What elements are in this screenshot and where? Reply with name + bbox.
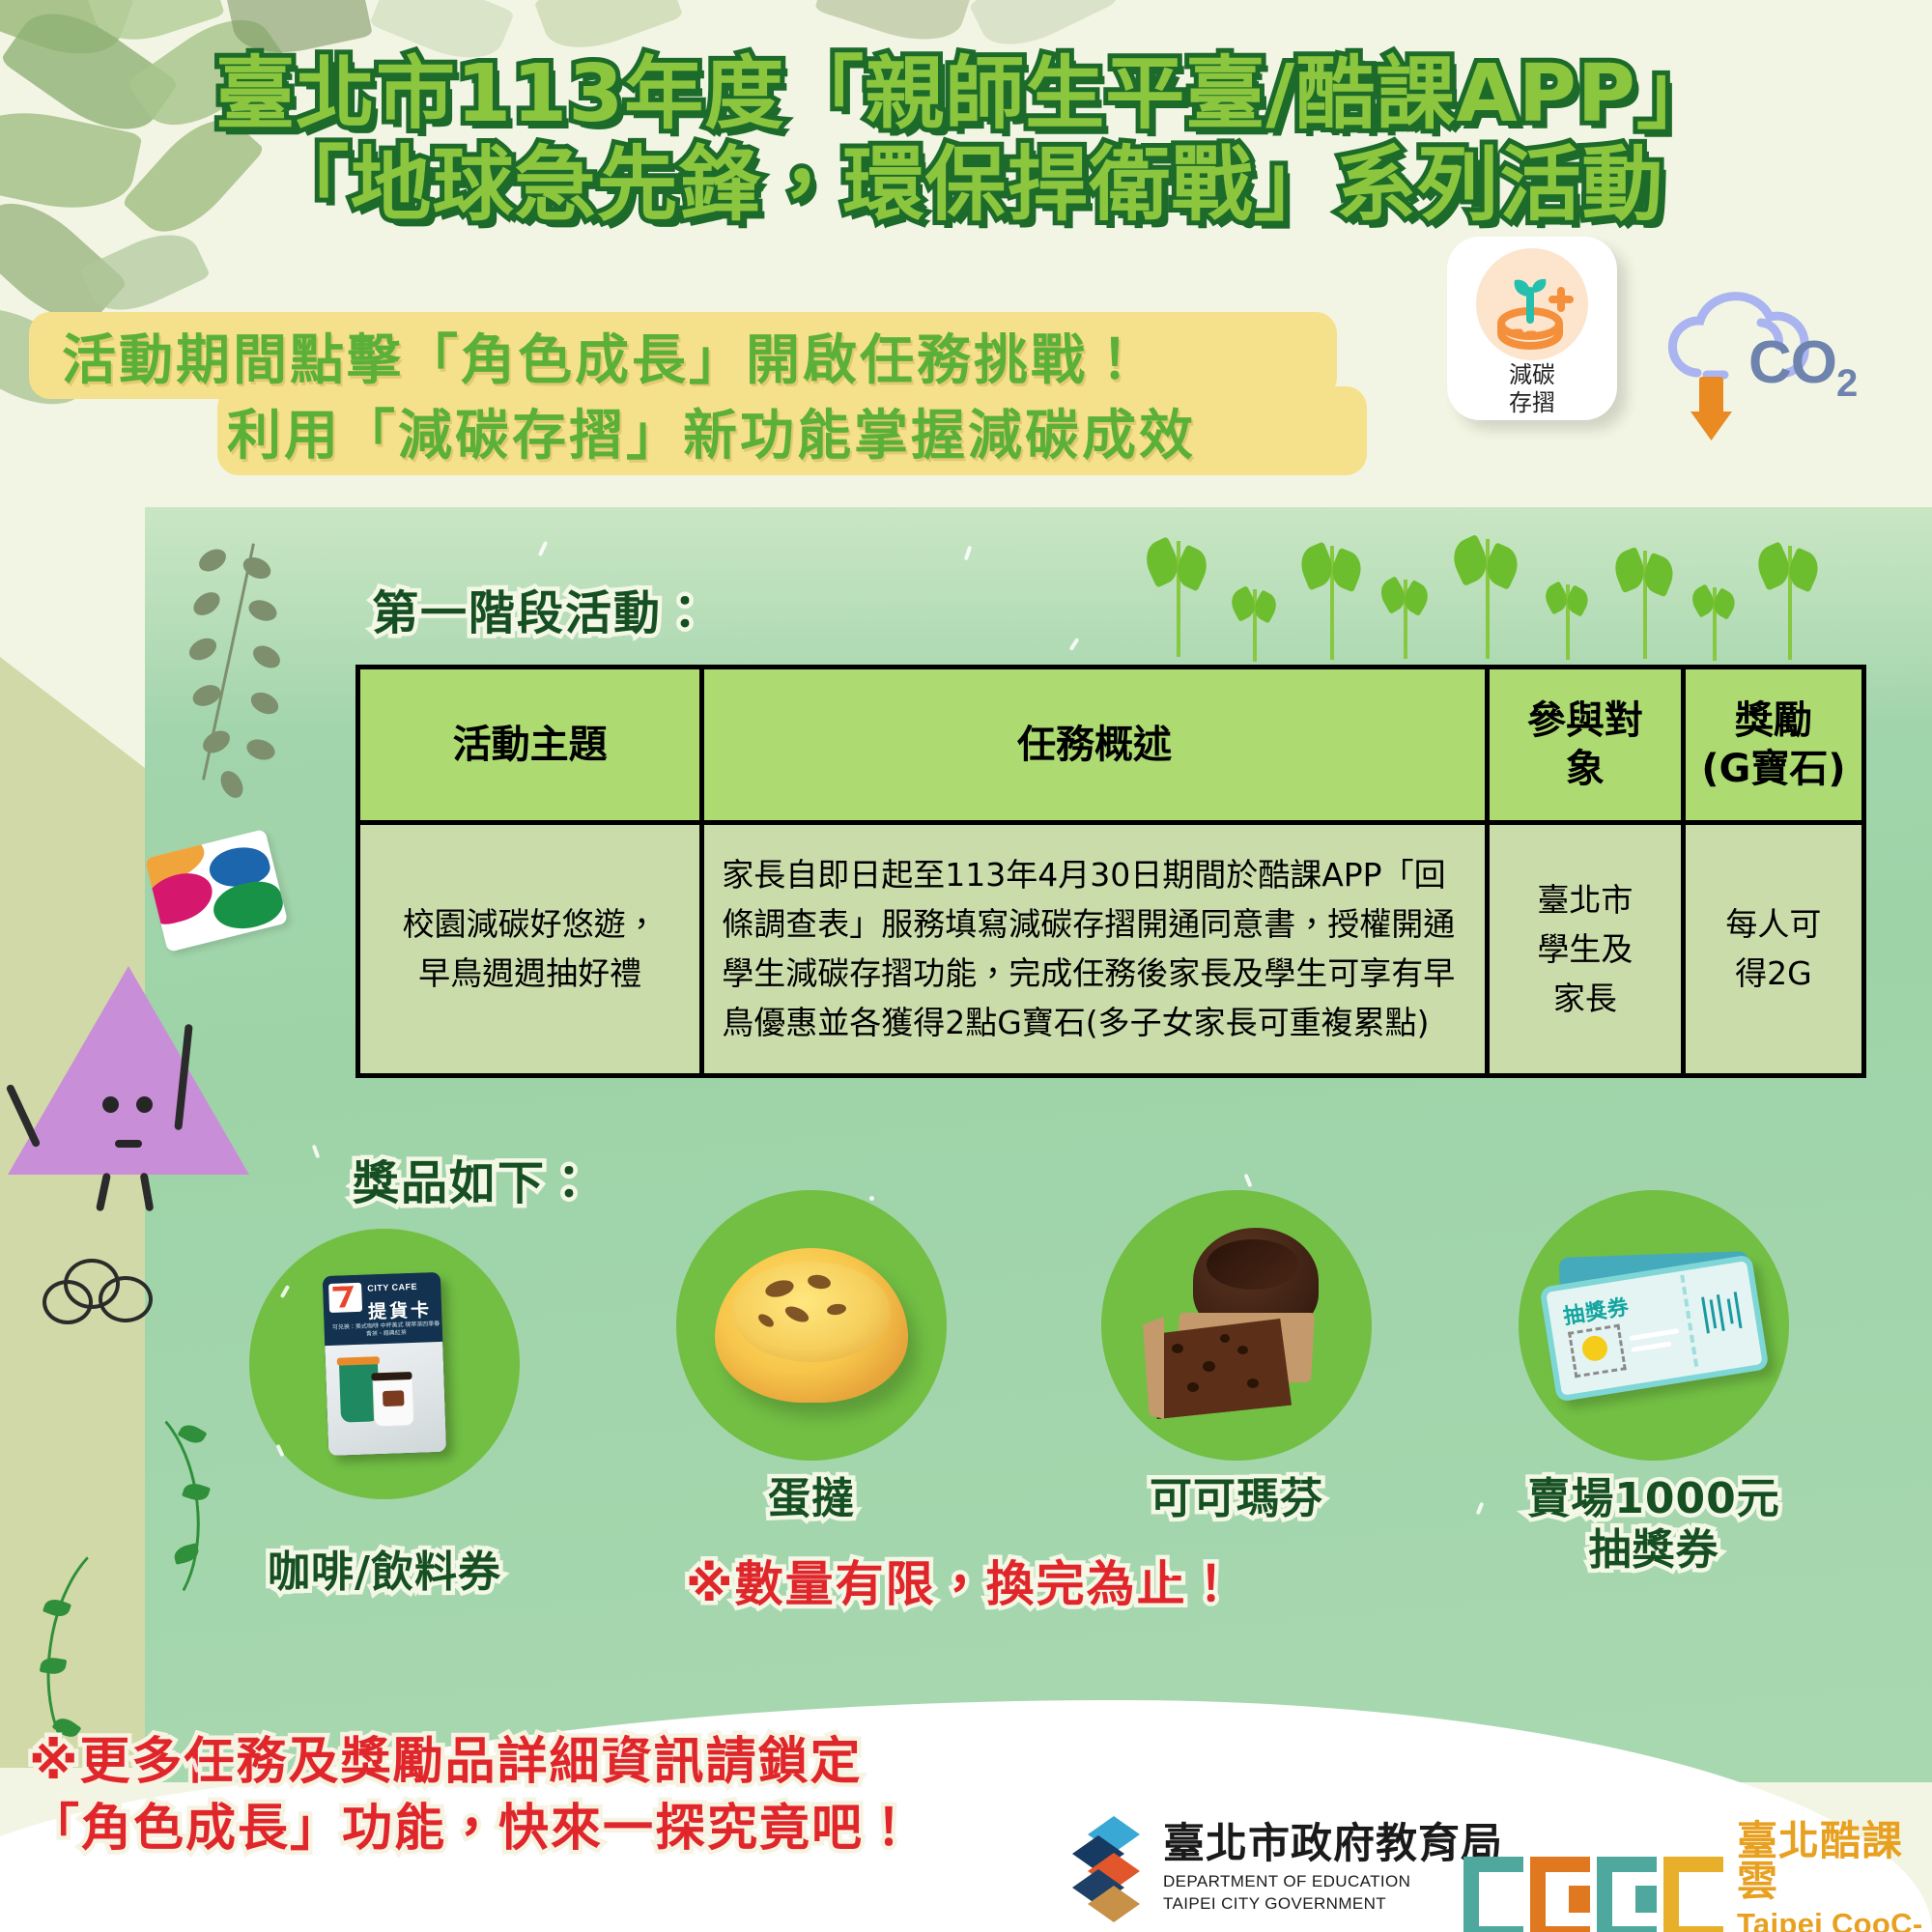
taipei-department-of-education-logo: 臺北市政府教育局 DEPARTMENT OF EDUCATION TAIPEI …: [1072, 1816, 1503, 1922]
activity-table: 活動主題 任務概述 參與對 象 獎勵 (G寶石) 校園減碳好悠遊， 早鳥週週抽好…: [355, 665, 1866, 1078]
table-header-row: 活動主題 任務概述 參與對 象 獎勵 (G寶石): [358, 668, 1864, 823]
col-header-theme: 活動主題: [358, 668, 702, 823]
highlight-banner-2-text: 利用「減碳存摺」新功能掌握減碳成效: [227, 392, 1196, 470]
prize-label-2: 蛋撻: [676, 1474, 947, 1525]
prizes-label: 獎品如下：: [353, 1145, 594, 1212]
limited-quantity-note: ※數量有限，換完為止！: [686, 1546, 1237, 1615]
seven-eleven-city-cafe-card-icon: CITY CAFE 提貨卡 可兑换：美式咖啡 中杯美式 現萃茶四季春青茶、經典紅…: [323, 1272, 446, 1456]
carbon-passbook-app-card[interactable]: 減碳 存摺: [1447, 237, 1617, 420]
prize-label-3: 可可瑪芬: [1101, 1474, 1372, 1525]
doe-name-en-line2: TAIPEI CITY GOVERNMENT: [1163, 1893, 1503, 1916]
title-line-2: 「地球急先鋒，環保捍衛戰」系列活動: [0, 142, 1932, 227]
table-row: 校園減碳好悠遊， 早鳥週週抽好禮 家長自即日起至113年4月30日期間於酷課AP…: [358, 823, 1864, 1076]
cooc-name-en: Taipei CooC-Cloud: [1737, 1907, 1932, 1932]
eucalyptus-vine-decoration: [159, 541, 304, 831]
stage-one-label: 第一階段活動：: [372, 575, 710, 642]
co2-cloud-down-arrow-icon: CO2: [1647, 269, 1889, 442]
prize-label-4-line1: 賣場1000元: [1490, 1474, 1818, 1525]
card-fine-print: 可兑换：美式咖啡 中杯美式 現萃茶四季春青茶、經典紅茶: [330, 1321, 442, 1340]
card-brand-label: CITY CAFE: [367, 1282, 417, 1293]
cell-description: 家長自即日起至113年4月30日期間於酷課APP「回條調查表」服務填寫減碳存摺開…: [702, 823, 1488, 1076]
cocoa-muffin-icon: [1135, 1224, 1338, 1427]
co2-label: CO2: [1748, 328, 1857, 406]
cta-line-1: ※更多任務及獎勵品詳細資訊請鎖定: [29, 1729, 995, 1796]
cooc-logo-text: 臺北酷課雲 Taipei CooC-Cloud: [1737, 1821, 1932, 1932]
page-title: 臺北市113年度「親師生平臺/酷課APP」 「地球急先鋒，環保捍衛戰」系列活動: [0, 53, 1932, 227]
egg-tart-icon: [715, 1248, 908, 1403]
activity-table-body: 校園減碳好悠遊， 早鳥週週抽好禮 家長自即日起至113年4月30日期間於酷課AP…: [358, 823, 1864, 1076]
prize-label-4-line2: 抽獎券: [1490, 1525, 1818, 1577]
prize-item-cocoa-muffin: 可可瑪芬: [1101, 1190, 1372, 1525]
highlight-banner-1-text: 活動期間點擊「角色成長」開啟任務挑戰！: [62, 317, 1145, 395]
col-header-description: 任務概述: [702, 668, 1488, 823]
cooc-name-cn: 臺北酷課雲: [1737, 1821, 1932, 1902]
prize-item-egg-tart: 蛋撻: [676, 1190, 947, 1525]
app-card-caption-line2: 存摺: [1509, 391, 1555, 416]
mascot-eye-right: [136, 1096, 153, 1113]
cell-theme-line1: 校園減碳好悠遊，: [378, 899, 682, 949]
cell-theme-line2: 早鳥週週抽好禮: [378, 949, 682, 998]
prize-item-coffee-voucher: CITY CAFE 提貨卡 可兑换：美式咖啡 中杯美式 現萃茶四季春青茶、經典紅…: [249, 1229, 520, 1599]
lottery-ticket-icon: 抽獎券: [1533, 1236, 1776, 1414]
app-card-caption-line1: 減碳: [1509, 363, 1555, 388]
doe-logo-text: 臺北市政府教育局 DEPARTMENT OF EDUCATION TAIPEI …: [1163, 1824, 1503, 1916]
mascot-mouth: [115, 1140, 142, 1148]
cell-reward-line1: 每人可: [1703, 899, 1844, 949]
col-header-target: 參與對 象: [1487, 668, 1683, 823]
taipei-doe-diamond-logo: [1072, 1816, 1146, 1922]
ticket-text: 抽獎券: [1561, 1290, 1632, 1330]
prize-disc-4: 抽獎券: [1519, 1190, 1789, 1461]
cell-reward: 每人可 得2G: [1683, 823, 1863, 1076]
prize-label-4: 賣場1000元 抽獎券: [1490, 1474, 1818, 1577]
title-line-1: 臺北市113年度「親師生平臺/酷課APP」: [0, 53, 1932, 136]
doe-name-cn: 臺北市政府教育局: [1163, 1824, 1503, 1865]
cell-theme: 校園減碳好悠遊， 早鳥週週抽好禮: [358, 823, 702, 1076]
cell-target: 臺北市 學生及 家長: [1487, 823, 1683, 1076]
taipei-cooc-cloud-logo: 臺北酷課雲 Taipei CooC-Cloud: [1463, 1821, 1932, 1932]
col-header-target-line1: 參與對: [1495, 696, 1675, 745]
cell-target-line1: 臺北市: [1507, 875, 1663, 924]
cell-reward-line2: 得2G: [1703, 949, 1844, 998]
call-to-action-note: ※更多任務及獎勵品詳細資訊請鎖定 「角色成長」功能，快來一探究竟吧！: [29, 1729, 995, 1861]
cell-target-line2: 學生及: [1507, 924, 1663, 974]
prize-disc-1: CITY CAFE 提貨卡 可兑换：美式咖啡 中杯美式 現萃茶四季春青茶、經典紅…: [249, 1229, 520, 1499]
col-header-reward-line2: (G寶石): [1691, 745, 1856, 793]
highlight-banner-2: 利用「減碳存摺」新功能掌握減碳成效: [217, 386, 1367, 475]
prize-disc-2: [676, 1190, 947, 1461]
triangle-mascot: [8, 966, 249, 1188]
col-header-reward-line1: 獎勵: [1691, 696, 1856, 745]
mascot-eye-left: [102, 1096, 119, 1113]
col-header-target-line2: 象: [1495, 745, 1675, 793]
cooc-bracket-logo: [1463, 1857, 1723, 1932]
col-header-reward: 獎勵 (G寶石): [1683, 668, 1863, 823]
sprout-coin-icon: [1476, 248, 1588, 360]
cloud-doodle-icon: [39, 1251, 164, 1338]
prize-item-lottery-ticket: 抽獎券 賣場1000元 抽獎券: [1519, 1190, 1789, 1577]
prize-disc-3: [1101, 1190, 1372, 1461]
activity-table-head: 活動主題 任務概述 參與對 象 獎勵 (G寶石): [358, 668, 1864, 823]
doe-name-en-line1: DEPARTMENT OF EDUCATION: [1163, 1871, 1503, 1893]
cell-target-line3: 家長: [1507, 974, 1663, 1023]
card-title-label: 提貨卡: [368, 1295, 433, 1323]
cta-line-2: 「角色成長」功能，快來一探究竟吧！: [29, 1796, 995, 1862]
prize-label-1: 咖啡/飲料券: [249, 1548, 520, 1599]
poster-root: 臺北市113年度「親師生平臺/酷課APP」 「地球急先鋒，環保捍衛戰」系列活動 …: [0, 0, 1932, 1932]
